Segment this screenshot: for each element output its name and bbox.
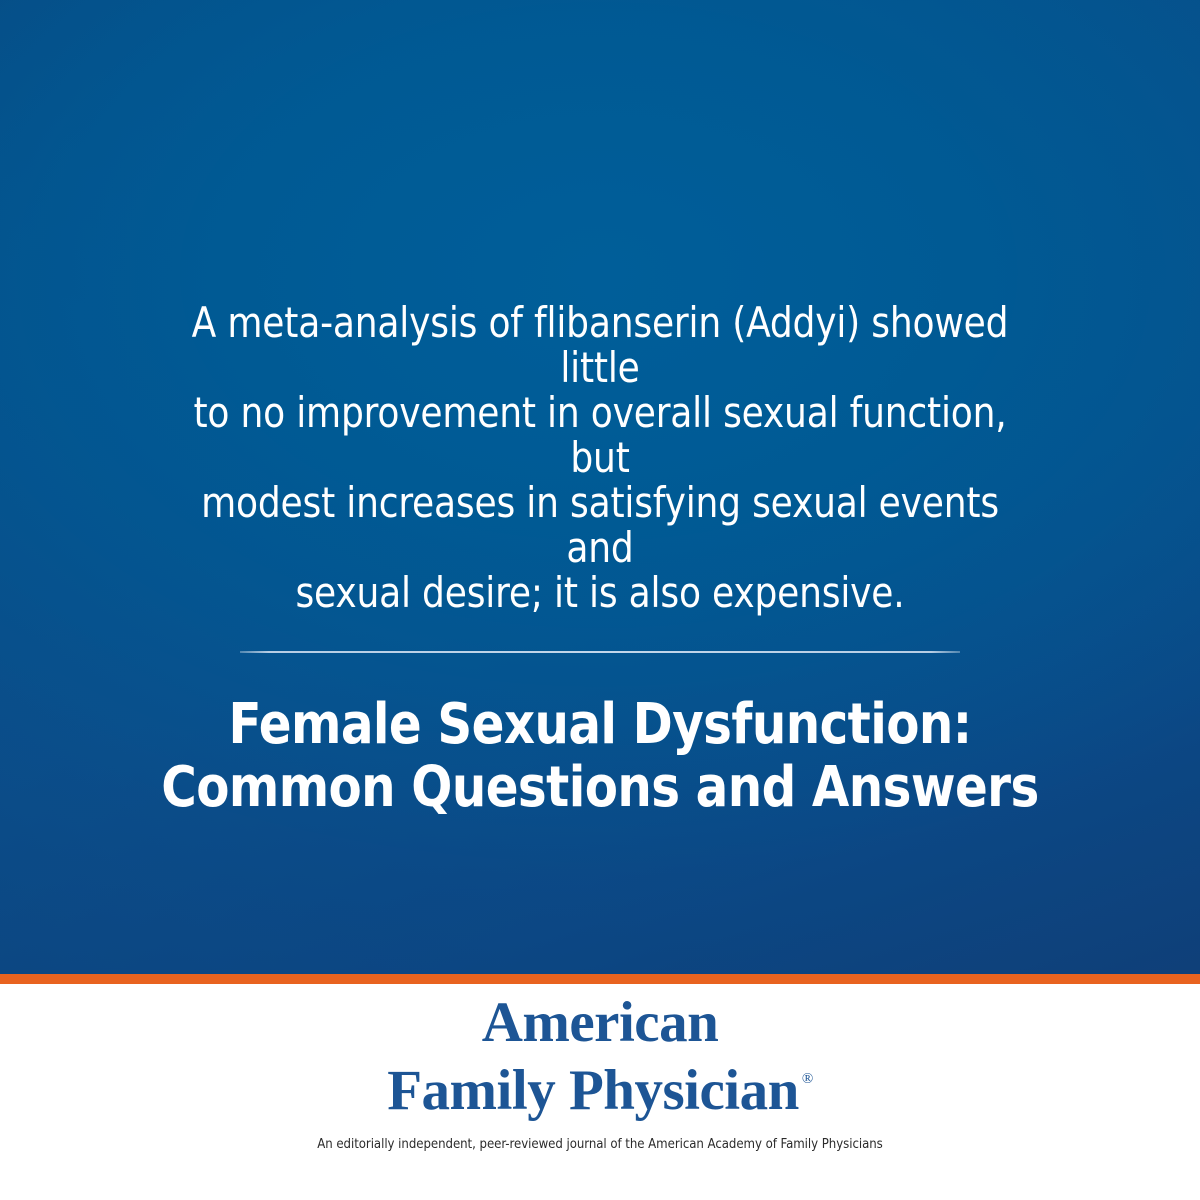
hero-content: A meta-analysis of flibanserin (Addyi) s…	[0, 300, 1200, 819]
journal-tagline: An editorially independent, peer-reviewe…	[18, 1136, 1182, 1152]
registered-trademark-icon: ®	[802, 1071, 813, 1087]
american-family-physician-logo: American Family Physician®	[0, 994, 1200, 1119]
footer-branding: American Family Physician® An editoriall…	[0, 984, 1200, 1200]
logo-line-family-physician: Family Physician®	[0, 1051, 1200, 1119]
horizontal-divider	[240, 651, 960, 653]
logo-line-american: American	[0, 994, 1200, 1051]
orange-accent-bar	[0, 974, 1200, 984]
social-share-card: A meta-analysis of flibanserin (Addyi) s…	[0, 0, 1200, 1200]
hero-banner: A meta-analysis of flibanserin (Addyi) s…	[0, 0, 1200, 974]
article-pull-quote: A meta-analysis of flibanserin (Addyi) s…	[166, 300, 1035, 615]
article-title: Female Sexual Dysfunction: Common Questi…	[130, 693, 1071, 819]
logo-wordmark-text: Family Physician	[387, 1059, 799, 1122]
